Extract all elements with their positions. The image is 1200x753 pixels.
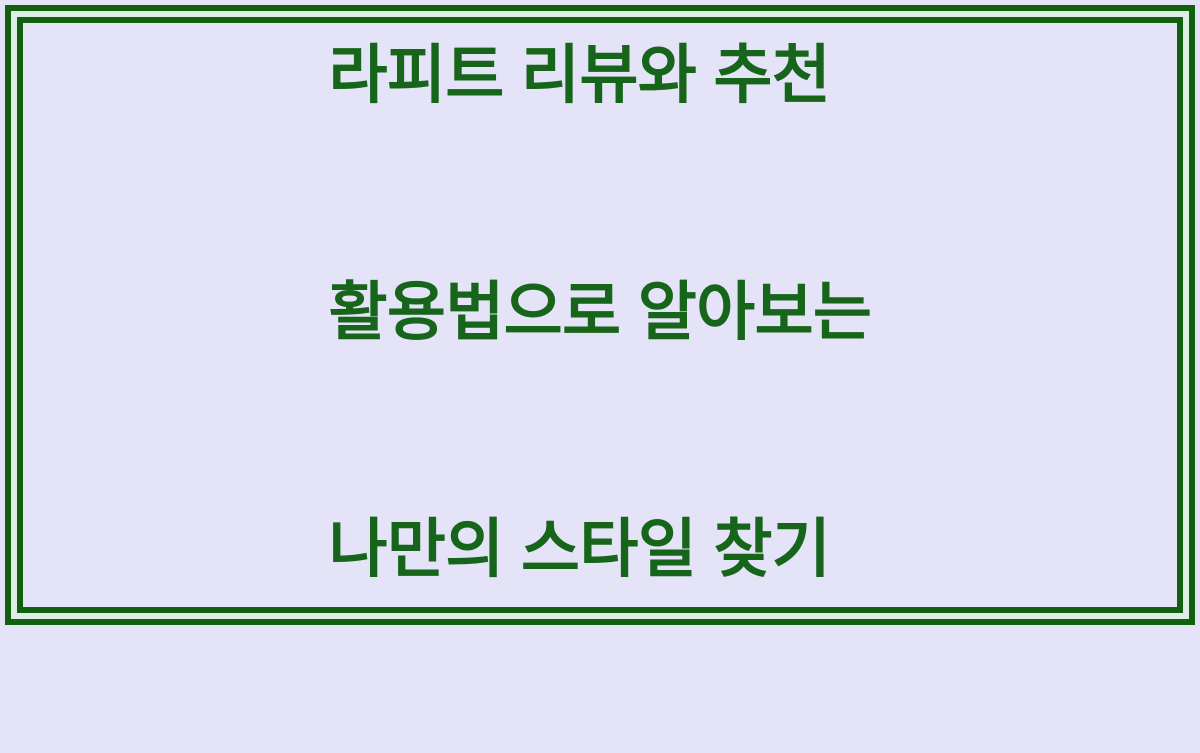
headline-container: 라피트 리뷰와 추천 활용법으로 알아보는 나만의 스타일 찾기 (0, 0, 1200, 630)
page-title: 라피트 리뷰와 추천 활용법으로 알아보는 나만의 스타일 찾기 (329, 0, 872, 753)
headline-line-2: 활용법으로 알아보는 (329, 273, 872, 352)
headline-line-3: 나만의 스타일 찾기 (329, 510, 872, 589)
headline-line-1: 라피트 리뷰와 추천 (329, 36, 872, 115)
thumbnail-canvas: 라피트 리뷰와 추천 활용법으로 알아보는 나만의 스타일 찾기 (0, 0, 1200, 630)
